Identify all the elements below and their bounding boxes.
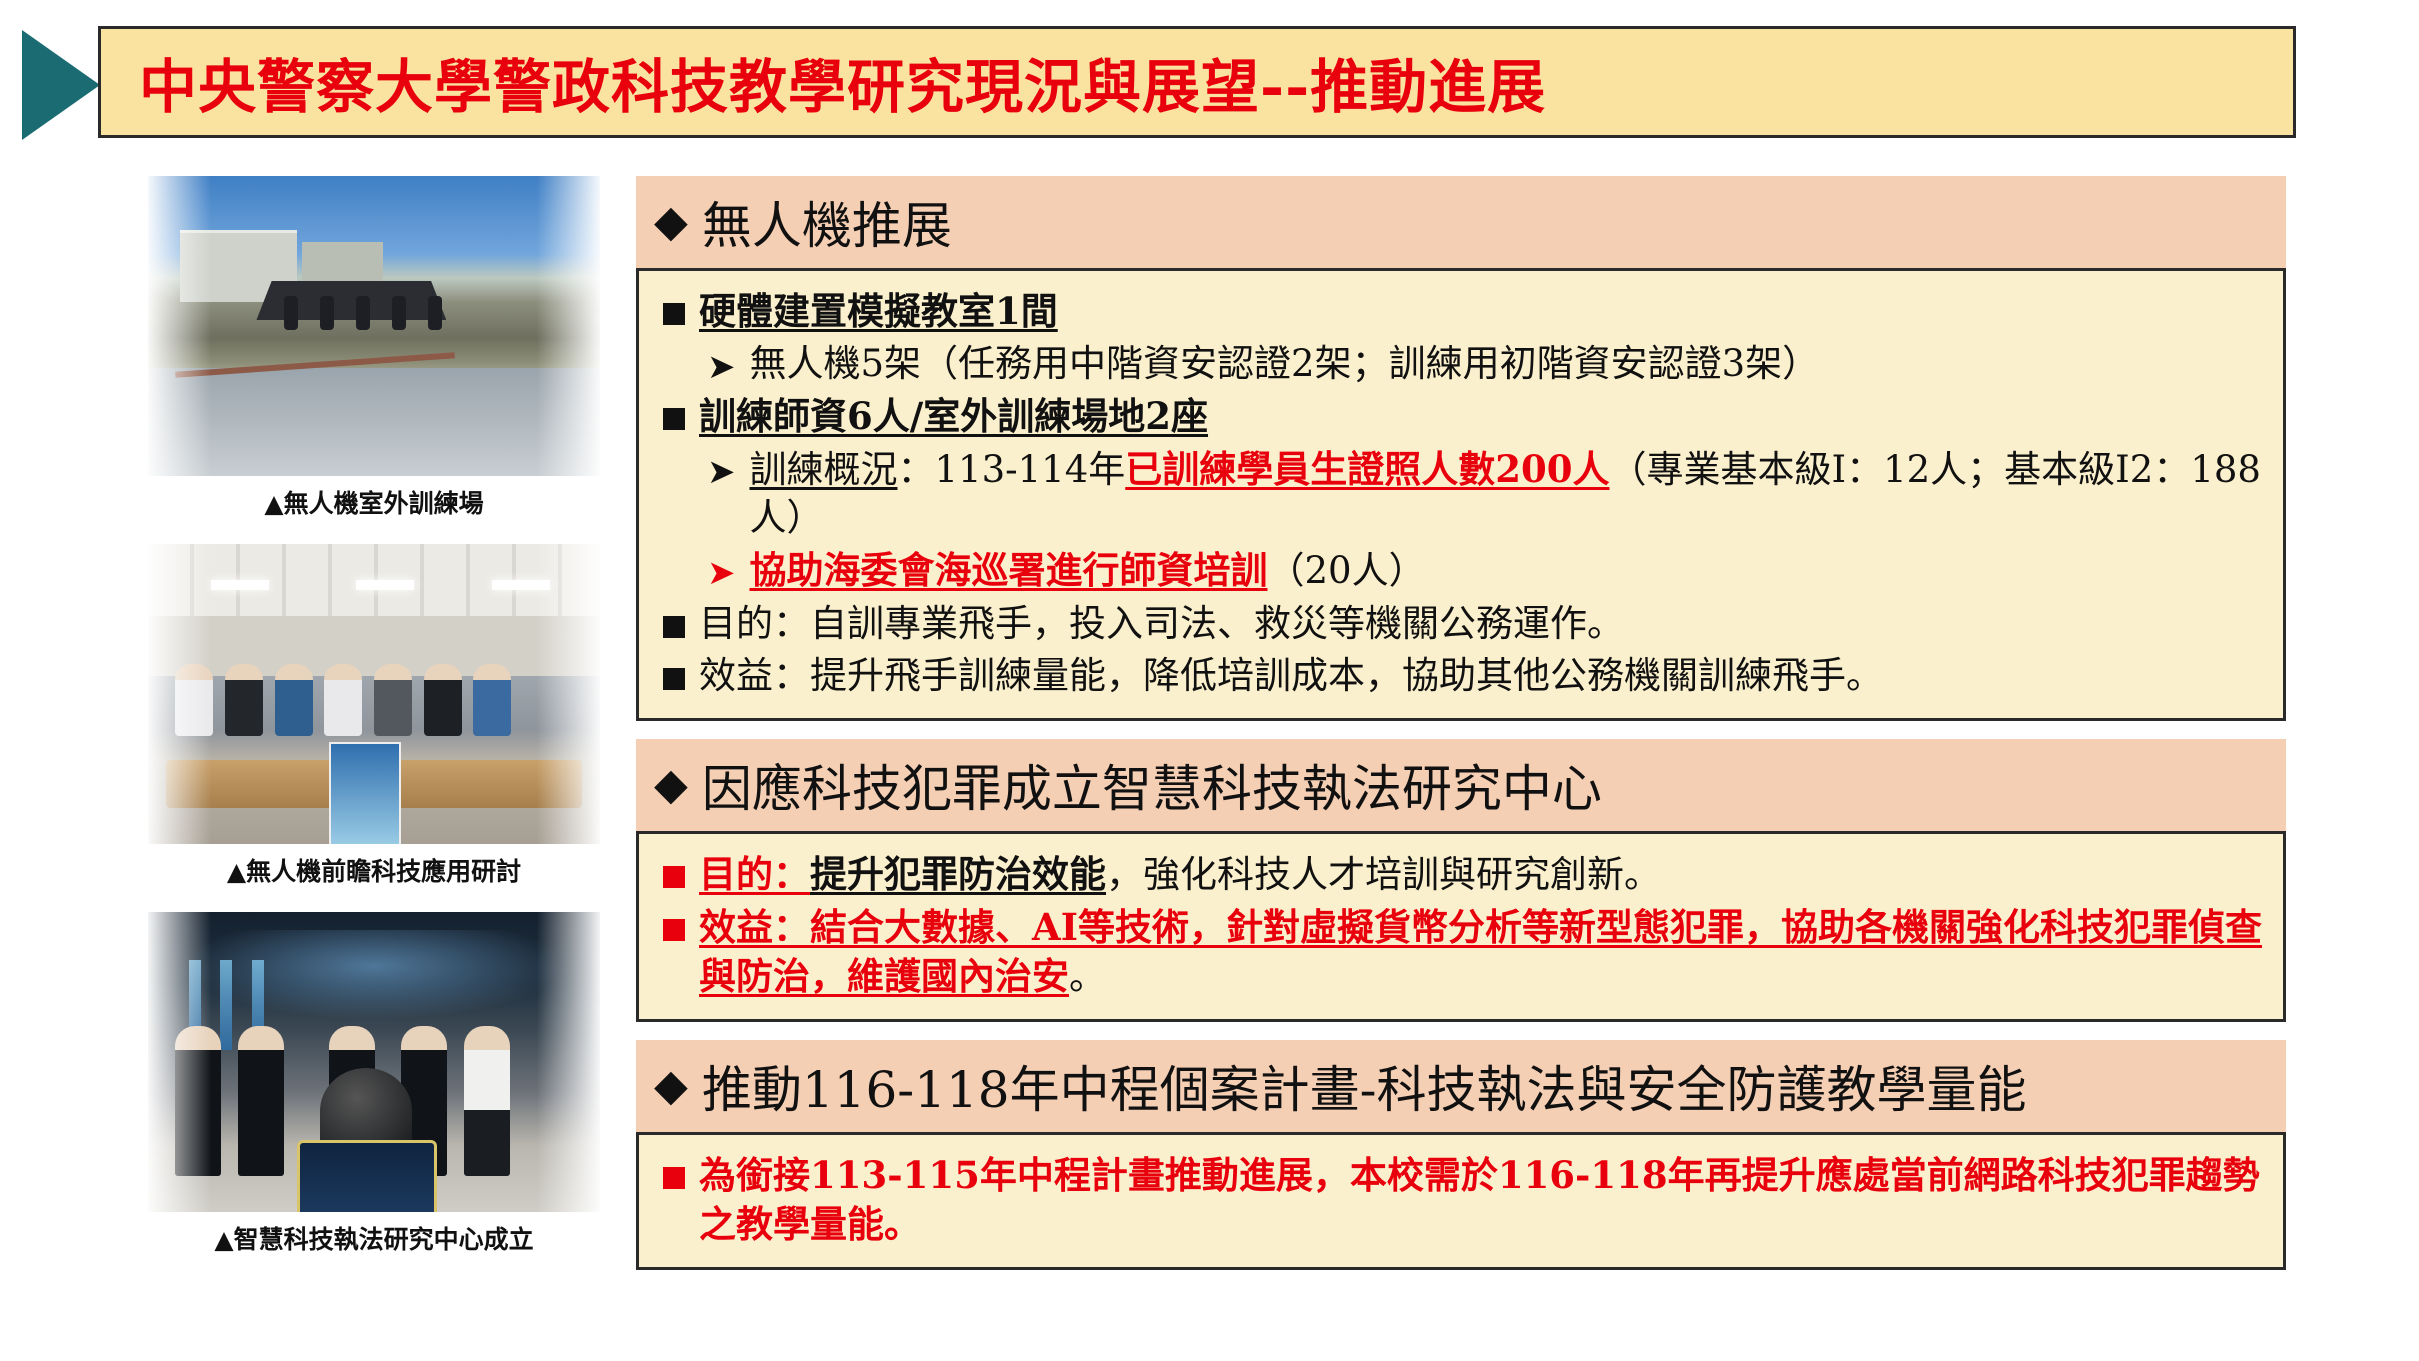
arrow-bullet-icon: ➤ [707, 556, 736, 590]
list-item: 目的：自訓專業飛手，投入司法、救災等機關公務運作。 [663, 600, 2263, 648]
text-run: 目的：自訓專業飛手，投入司法、救災等機關公務運作。 [699, 602, 1624, 645]
text-run: 效益：提升飛手訓練量能，降低培訓成本，協助其他公務機關訓練飛手。 [699, 654, 1883, 697]
square-bullet-icon [663, 866, 685, 888]
text-run: 提升犯罪防治效能 [810, 852, 1106, 896]
section-header-1: ◆無人機推展 [636, 176, 2286, 268]
section-header-3: ◆推動116-118年中程個案計畫-科技執法與安全防護教學量能 [636, 1040, 2286, 1132]
list-item-text: 效益：提升飛手訓練量能，降低培訓成本，協助其他公務機關訓練飛手。 [699, 652, 1883, 700]
list-item: ➤協助海委會海巡署進行師資培訓（20人） [663, 546, 2263, 595]
section-body-2: 目的：提升犯罪防治效能，強化科技人才培訓與研究創新。效益：結合大數據、AI等技術… [636, 831, 2286, 1022]
text-run: ：113-114年 [898, 448, 1126, 491]
text-run: 無人機5架（任務用中階資安認證2架；訓練用初階資安認證3架） [750, 342, 1820, 385]
square-bullet-icon [663, 303, 685, 325]
list-item-text: 目的：自訓專業飛手，投入司法、救災等機關公務運作。 [699, 600, 1624, 648]
list-item-text: 訓練師資6人/室外訓練場地2座 [699, 392, 1208, 441]
list-item: 硬體建置模擬教室1間 [663, 287, 2263, 336]
list-item: 為銜接113-115年中程計畫推動進展，本校需於116-118年再提升應處當前網… [663, 1151, 2263, 1249]
list-item-text: 硬體建置模擬教室1間 [699, 287, 1058, 336]
square-bullet-icon [663, 919, 685, 941]
section-body-3: 為銜接113-115年中程計畫推動進展，本校需於116-118年再提升應處當前網… [636, 1132, 2286, 1270]
list-item: 訓練師資6人/室外訓練場地2座 [663, 392, 2263, 441]
list-item: ➤無人機5架（任務用中階資安認證2架；訓練用初階資安認證3架） [663, 340, 2263, 388]
arrow-bullet-icon: ➤ [707, 455, 736, 489]
photo-block-3: ▲智慧科技執法研究中心成立 [148, 912, 600, 1272]
list-item-text: 目的：提升犯罪防治效能，強化科技人才培訓與研究創新。 [699, 850, 1661, 899]
photo-caption-3: ▲智慧科技執法研究中心成立 [148, 1212, 600, 1272]
text-run: 協助海委會海巡署進行師資培訓 [750, 548, 1268, 592]
list-item-text: 效益：結合大數據、AI等技術，針對虛擬貨幣分析等新型態犯罪，協助各機關強化科技犯… [699, 903, 2263, 1001]
arrow-bullet-icon: ➤ [707, 350, 736, 384]
center-opening-ceremony-photo [148, 912, 600, 1212]
text-run: 訓練概況 [750, 448, 898, 491]
section-title-3: 推動116-118年中程個案計畫-科技執法與安全防護教學量能 [702, 1050, 2027, 1122]
section-3: ◆推動116-118年中程個案計畫-科技執法與安全防護教學量能為銜接113-11… [636, 1040, 2286, 1270]
text-run: （20人） [1268, 549, 1426, 592]
text-run: 為銜接113-115年中程計畫推動進展，本校需於116-118年再提升應處當前網… [699, 1153, 2260, 1246]
photo-caption-1: ▲無人機室外訓練場 [148, 476, 600, 536]
section-header-2: ◆因應科技犯罪成立智慧科技執法研究中心 [636, 739, 2286, 831]
list-item: 效益：結合大數據、AI等技術，針對虛擬貨幣分析等新型態犯罪，協助各機關強化科技犯… [663, 903, 2263, 1001]
square-bullet-icon [663, 616, 685, 638]
text-run: ，強化科技人才培訓與研究創新。 [1106, 853, 1661, 896]
square-bullet-icon [663, 1167, 685, 1189]
section-2: ◆因應科技犯罪成立智慧科技執法研究中心目的：提升犯罪防治效能，強化科技人才培訓與… [636, 739, 2286, 1022]
photo-block-1: ▲無人機室外訓練場 [148, 176, 600, 536]
list-item: ➤訓練概況：113-114年已訓練學員生證照人數200人（專業基本級I：12人；… [663, 445, 2263, 542]
text-run: 。 [1069, 955, 1106, 998]
drone-tech-seminar-photo [148, 544, 600, 844]
square-bullet-icon [663, 668, 685, 690]
content-column: ◆無人機推展硬體建置模擬教室1間➤無人機5架（任務用中階資安認證2架；訓練用初階… [636, 176, 2286, 1288]
diamond-bullet-icon: ◆ [654, 1064, 688, 1108]
text-run: 目的： [699, 852, 810, 896]
list-item-text: 無人機5架（任務用中階資安認證2架；訓練用初階資安認證3架） [750, 340, 1820, 388]
page-title: 中央警察大學警政科技教學研究現況與展望--推動進展 [101, 40, 1546, 124]
list-item-text: 為銜接113-115年中程計畫推動進展，本校需於116-118年再提升應處當前網… [699, 1151, 2263, 1249]
slide-canvas: 中央警察大學警政科技教學研究現況與展望--推動進展 ▲無人機室外訓練場 [0, 0, 2419, 1361]
section-1: ◆無人機推展硬體建置模擬教室1間➤無人機5架（任務用中階資安認證2架；訓練用初階… [636, 176, 2286, 721]
section-title-1: 無人機推展 [702, 186, 952, 258]
list-item-text: 訓練概況：113-114年已訓練學員生證照人數200人（專業基本級I：12人；基… [750, 445, 2264, 542]
square-bullet-icon [663, 408, 685, 430]
diamond-bullet-icon: ◆ [654, 763, 688, 807]
list-item: 效益：提升飛手訓練量能，降低培訓成本，協助其他公務機關訓練飛手。 [663, 652, 2263, 700]
section-body-1: 硬體建置模擬教室1間➤無人機5架（任務用中階資安認證2架；訓練用初階資安認證3架… [636, 268, 2286, 721]
photo-column: ▲無人機室外訓練場 ▲無人機前瞻科技應用研討 [148, 176, 600, 1280]
list-item: 目的：提升犯罪防治效能，強化科技人才培訓與研究創新。 [663, 850, 2263, 899]
list-item-text: 協助海委會海巡署進行師資培訓（20人） [750, 546, 1426, 595]
text-run: 訓練師資6人/室外訓練場地2座 [699, 394, 1208, 438]
text-run: 效益：結合大數據、AI等技術，針對虛擬貨幣分析等新型態犯罪，協助各機關強化科技犯… [699, 905, 2262, 998]
slide-title-bar: 中央警察大學警政科技教學研究現況與展望--推動進展 [98, 26, 2296, 138]
diamond-bullet-icon: ◆ [654, 200, 688, 244]
photo-caption-2: ▲無人機前瞻科技應用研討 [148, 844, 600, 904]
photo-block-2: ▲無人機前瞻科技應用研討 [148, 544, 600, 904]
drone-outdoor-training-field-photo [148, 176, 600, 476]
section-title-2: 因應科技犯罪成立智慧科技執法研究中心 [702, 749, 1602, 821]
title-arrow-icon [22, 30, 100, 140]
text-run: 已訓練學員生證照人數200人 [1125, 447, 1609, 491]
text-run: 硬體建置模擬教室1間 [699, 289, 1058, 333]
